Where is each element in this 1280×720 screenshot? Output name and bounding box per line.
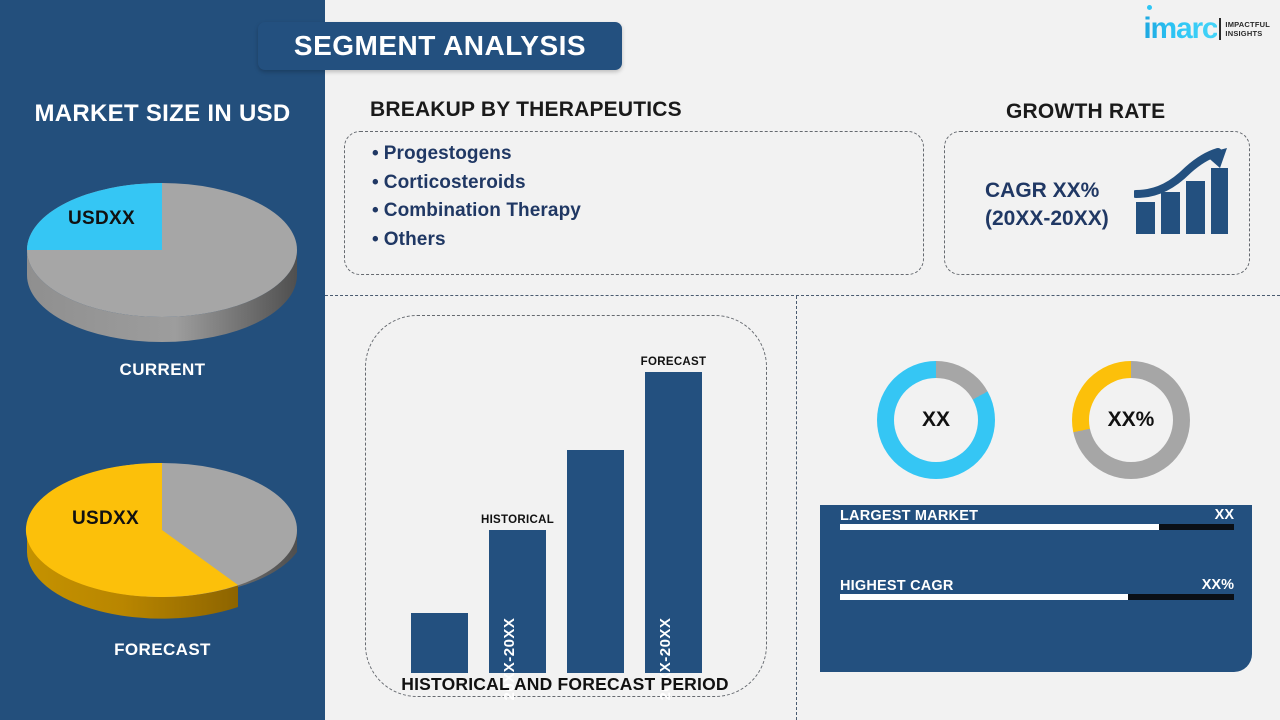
period-chart-axis-label: HISTORICAL AND FORECAST PERIOD <box>365 674 765 695</box>
imarc-logo: imarc IMPACTFUL INSIGHTS <box>1143 11 1270 47</box>
largest-market-progress-track <box>840 524 1234 530</box>
market-size-sidebar: MARKET SIZE IN USD <box>0 0 325 720</box>
therapeutics-heading: BREAKUP BY THERAPEUTICS <box>370 98 682 122</box>
largest-market-progress-fill <box>840 524 1159 530</box>
historical-annotation: HISTORICAL <box>481 514 554 526</box>
highest-cagr-progress-fill <box>840 594 1128 600</box>
forecast-pie-stage: USDXX <box>0 430 325 630</box>
forecast-annotation: FORECAST <box>641 356 707 368</box>
cagr-line1: CAGR XX% <box>985 177 1109 205</box>
bar-1 <box>411 613 468 673</box>
list-item-label: Corticosteroids <box>384 172 526 193</box>
vertical-divider <box>796 296 797 720</box>
highest-cagr-progress-track <box>840 594 1234 600</box>
forecast-pie-label: USDXX <box>72 508 139 530</box>
highest-cagr-label: HIGHEST CAGR <box>840 578 954 594</box>
list-item: •Others <box>372 226 872 255</box>
logo-divider <box>1219 18 1221 40</box>
growth-arrow-bars-icon <box>1134 146 1230 243</box>
current-pie-block: USDXX CURRENT <box>0 150 325 380</box>
bar-3 <box>567 450 624 673</box>
forecast-pie-chart <box>0 430 325 630</box>
page-title-banner: SEGMENT ANALYSIS <box>258 22 622 70</box>
bullet-icon: • <box>372 172 379 193</box>
current-pie-label: USDXX <box>68 208 135 230</box>
largest-market-donut-value: XX <box>922 408 950 432</box>
growth-rate-heading: GROWTH RATE <box>1006 100 1165 124</box>
largest-market-donut: XX <box>877 361 995 479</box>
highest-cagr-donut-hole: XX% <box>1089 378 1173 462</box>
logo-tagline-line1: IMPACTFUL <box>1225 20 1270 29</box>
list-item: •Progestogens <box>372 140 872 169</box>
forecast-pie-caption: FORECAST <box>0 640 325 660</box>
highest-cagr-donut-value: XX% <box>1108 408 1155 432</box>
largest-market-donut-hole: XX <box>894 378 978 462</box>
logo-tagline-line2: INSIGHTS <box>1225 29 1270 38</box>
period-bar-chart: HISTORICAL 20XX-20XX FORECAST 20XX-20XX <box>380 363 750 673</box>
highest-cagr-value: XX% <box>1202 577 1234 593</box>
largest-market-value: XX <box>1215 507 1234 523</box>
forecast-pie-block: USDXX FORECAST <box>0 430 325 660</box>
bullet-icon: • <box>372 143 379 164</box>
list-item-label: Others <box>384 229 446 250</box>
bar-4: FORECAST 20XX-20XX <box>645 372 702 673</box>
key-stats-panel: LARGEST MARKET XX HIGHEST CAGR XX% <box>820 505 1252 672</box>
bullet-icon: • <box>372 200 379 221</box>
current-pie-caption: CURRENT <box>0 360 325 380</box>
logo-tagline: IMPACTFUL INSIGHTS <box>1225 20 1270 39</box>
bar-2: HISTORICAL 20XX-20XX <box>489 530 546 673</box>
therapeutics-list: •Progestogens •Corticosteroids •Combinat… <box>372 140 872 254</box>
list-item: •Combination Therapy <box>372 197 872 226</box>
list-item: •Corticosteroids <box>372 169 872 198</box>
bullet-icon: • <box>372 229 379 250</box>
sidebar-title: MARKET SIZE IN USD <box>0 100 325 128</box>
list-item-label: Progestogens <box>384 143 512 164</box>
logo-wordmark: imarc <box>1143 14 1217 44</box>
cagr-line2: (20XX-20XX) <box>985 205 1109 233</box>
infographic-page: MARKET SIZE IN USD <box>0 0 1280 720</box>
horizontal-divider <box>325 295 1280 296</box>
page-title: SEGMENT ANALYSIS <box>294 30 586 62</box>
current-pie-stage: USDXX <box>0 150 325 350</box>
current-pie-chart <box>0 150 325 350</box>
highest-cagr-donut: XX% <box>1072 361 1190 479</box>
list-item-label: Combination Therapy <box>384 200 581 221</box>
cagr-text: CAGR XX% (20XX-20XX) <box>985 177 1109 233</box>
largest-market-label: LARGEST MARKET <box>840 508 978 524</box>
